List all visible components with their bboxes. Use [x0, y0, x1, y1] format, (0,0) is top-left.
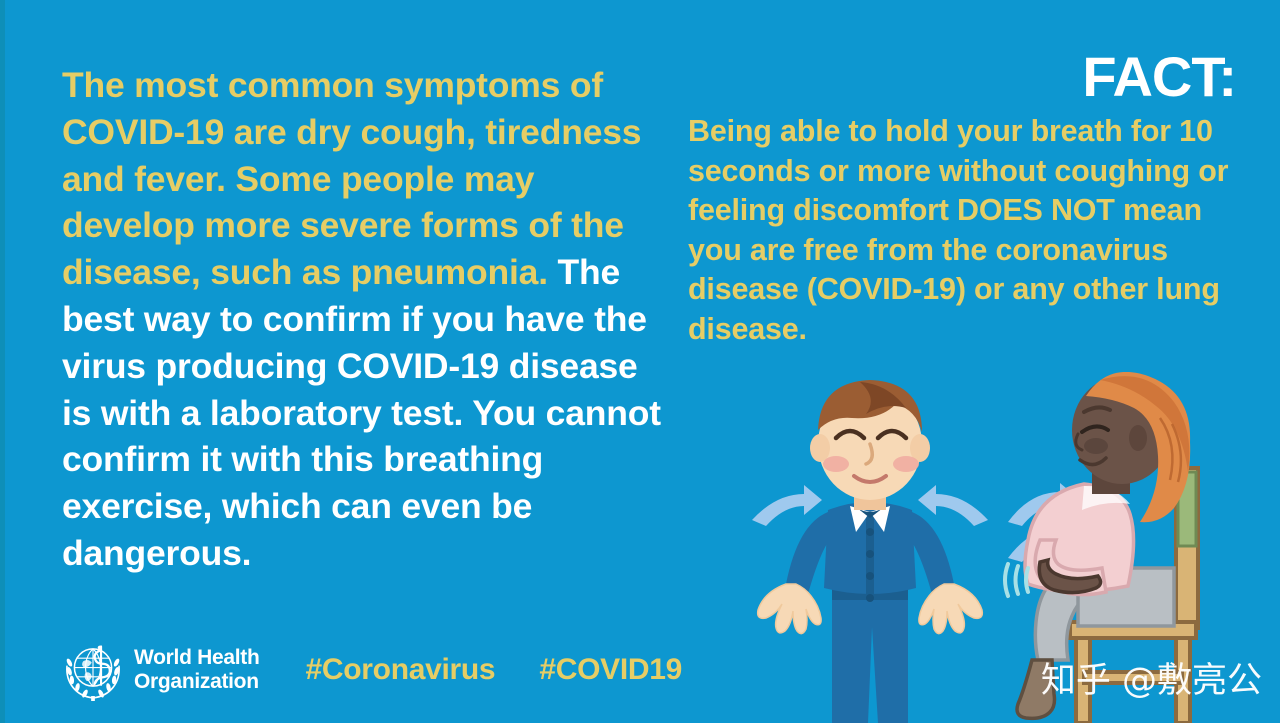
fact-body-text: Being able to hold your breath for 10 se… — [688, 112, 1236, 349]
who-covid-myth-buster-poster: The most common symptoms of COVID-19 are… — [0, 0, 1280, 723]
who-wordmark-line1: World Health — [134, 646, 260, 670]
answer-sentence: The best way to confirm if you have the … — [62, 252, 661, 573]
left-text-panel: The most common symptoms of COVID-19 are… — [62, 62, 662, 577]
who-logo-lockup: World Health Organization — [62, 639, 260, 701]
standing-man-figure — [758, 380, 983, 723]
myth-sentence: The most common symptoms of COVID-19 are… — [62, 65, 641, 292]
hashtag-covid19: #COVID19 — [539, 653, 682, 687]
right-fact-panel: FACT: Being able to hold your breath for… — [688, 48, 1236, 349]
footer-bar: World Health Organization #Coronavirus #… — [62, 639, 682, 701]
who-wordmark: World Health Organization — [134, 646, 260, 694]
who-wordmark-line2: Organization — [134, 670, 260, 694]
left-edge-strip — [0, 0, 5, 723]
zhihu-watermark: 知乎 @敷亮公 — [1041, 661, 1262, 701]
left-panel-paragraph: The most common symptoms of COVID-19 are… — [62, 62, 662, 577]
fact-label: FACT: — [688, 48, 1236, 106]
hashtag-coronavirus: #Coronavirus — [306, 653, 496, 687]
who-emblem-icon — [62, 639, 124, 701]
